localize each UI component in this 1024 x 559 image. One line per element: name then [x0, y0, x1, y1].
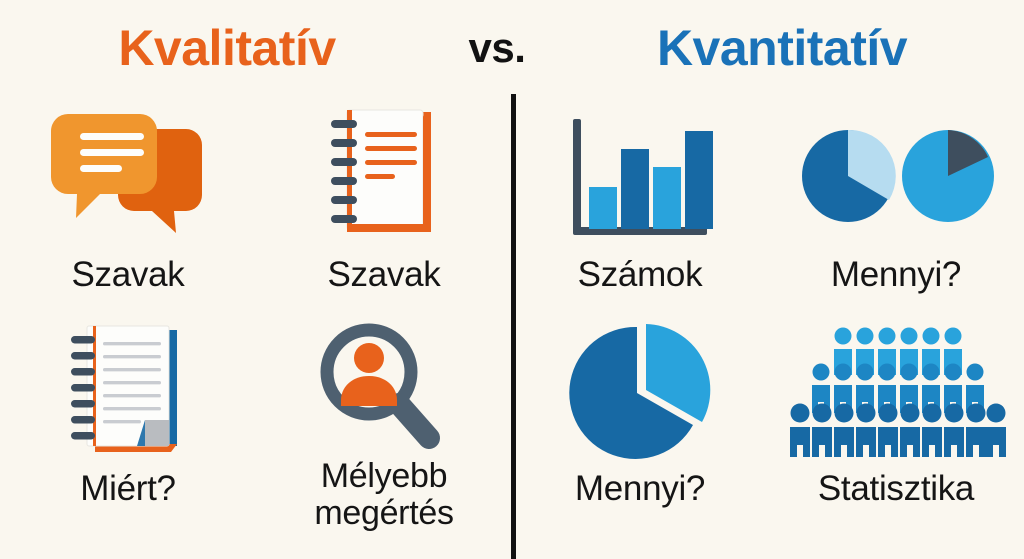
cell-notebook: Szavak: [256, 104, 512, 335]
spiral-notebook-icon: [309, 104, 459, 254]
infographic-root: Kvalitatív vs. Kvantitatív Szavak: [0, 0, 1024, 559]
page-title-quantitative: Kvantitatív: [552, 23, 1012, 73]
header: Kvalitatív vs. Kvantitatív: [0, 0, 1024, 96]
cell-speech-bubbles: Szavak: [0, 104, 256, 335]
cell-two-pies: Mennyi?: [768, 104, 1024, 335]
cell-label-bar-chart: Számok: [578, 256, 703, 294]
magnifier-person-icon: [309, 318, 459, 456]
cell-label-notebook: Szavak: [328, 256, 441, 294]
people-crowd-icon: [786, 318, 1006, 468]
bar-chart-icon: [555, 104, 725, 254]
cell-exploded-pie: Mennyi?: [512, 318, 768, 549]
cell-label-lined-notepad: Miért?: [80, 470, 175, 508]
cell-label-exploded-pie: Mennyi?: [575, 470, 705, 508]
cell-label-people-crowd: Statisztika: [818, 470, 974, 508]
cell-lined-notepad: Miért?: [0, 318, 256, 549]
exploded-pie-chart-icon: [565, 318, 715, 468]
cell-magnifier-person: Mélyebb megértés: [256, 318, 512, 549]
versus-separator-label: vs.: [442, 27, 552, 69]
lined-notepad-icon: [53, 318, 203, 468]
cell-label-speech-bubbles: Szavak: [72, 256, 185, 294]
cell-label-magnifier-person: Mélyebb megértés: [314, 458, 453, 531]
cell-people-crowd: Statisztika: [768, 318, 1024, 549]
cell-label-two-pies: Mennyi?: [831, 256, 961, 294]
two-pie-charts-icon: [796, 104, 996, 254]
page-title-qualitative: Kvalitatív: [12, 23, 442, 73]
speech-bubbles-icon: [38, 104, 218, 254]
icon-grid: Szavak: [0, 96, 1024, 559]
cell-bar-chart: Számok: [512, 104, 768, 335]
